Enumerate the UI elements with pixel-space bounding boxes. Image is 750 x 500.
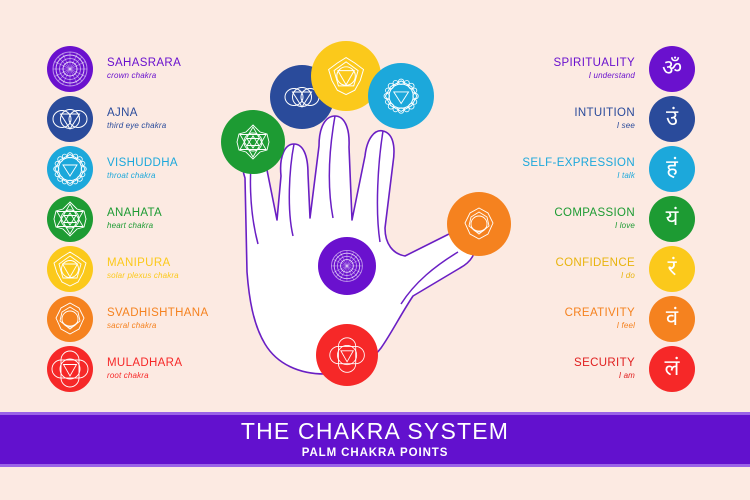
lam-icon: लं [665, 358, 680, 380]
legend-text: ANAHATA heart chakra [93, 207, 162, 231]
manipura-ten-petal-icon [47, 246, 93, 292]
hand-badge-svadhishthana[interactable] [447, 192, 511, 256]
ram-chip[interactable]: रं [649, 246, 695, 292]
legend-affirmation: I talk [510, 170, 635, 181]
legend-name: MANIPURA [107, 257, 179, 270]
muladhara-chip[interactable] [47, 346, 93, 392]
yam-icon: यं [666, 208, 679, 230]
legend-subtitle: heart chakra [107, 220, 162, 231]
yam-chip[interactable]: यं [649, 196, 695, 242]
ham-icon: हं [666, 158, 678, 180]
legend-affirmation: I feel [510, 320, 635, 331]
legend-text: CREATIVITY I feel [510, 307, 649, 331]
sahasrara-lotus-icon [47, 46, 93, 92]
legend-text: SECURITY I am [510, 357, 649, 381]
vam-chip[interactable]: वं [649, 296, 695, 342]
ram-icon: रं [668, 258, 677, 280]
legend-name: CREATIVITY [510, 307, 635, 320]
legend-subtitle: sacral chakra [107, 320, 208, 331]
hand-badge-sahasrara[interactable] [318, 237, 376, 295]
legend-text: SAHASRARA crown chakra [93, 57, 181, 81]
legend-text: SPIRITUALITY I understand [510, 57, 649, 81]
legend-text: INTUITION I see [510, 107, 649, 131]
legend-item-ajna[interactable]: AJNA third eye chakra [47, 94, 257, 144]
legend-item-svadhishthana[interactable]: SVADHISHTHANA sacral chakra [47, 294, 257, 344]
om-chip[interactable]: ॐ [649, 46, 695, 92]
legend-name: AJNA [107, 107, 166, 120]
legend-text: VISHUDDHA throat chakra [93, 157, 178, 181]
legend-subtitle: root chakra [107, 370, 182, 381]
legend-text: SELF-EXPRESSION I talk [510, 157, 649, 181]
footer-banner: THE CHAKRA SYSTEM PALM CHAKRA POINTS [0, 412, 750, 467]
legend-item-manipura[interactable]: MANIPURA solar plexus chakra [47, 244, 257, 294]
legend-item-spirituality[interactable]: SPIRITUALITY I understand ॐ [510, 44, 695, 94]
legend-text: AJNA third eye chakra [93, 107, 166, 131]
legend-text: CONFIDENCE I do [510, 257, 649, 281]
legend-item-self-expression[interactable]: SELF-EXPRESSION I talk हं [510, 144, 695, 194]
legend-text: MANIPURA solar plexus chakra [93, 257, 179, 281]
sahasrara-chip[interactable] [47, 46, 93, 92]
ajna-two-petal-icon [47, 96, 93, 142]
legend-affirmation: I am [510, 370, 635, 381]
hand-badge-vishuddha[interactable] [368, 63, 434, 129]
legend-subtitle: third eye chakra [107, 120, 166, 131]
legend-item-security[interactable]: SECURITY I am लं [510, 344, 695, 394]
banner-title: THE CHAKRA SYSTEM [241, 418, 509, 445]
legend-item-muladhara[interactable]: MULADHARA root chakra [47, 344, 257, 394]
anahata-hexagram-icon [47, 196, 93, 242]
lam-chip[interactable]: लं [649, 346, 695, 392]
hand-badge-muladhara[interactable] [316, 324, 378, 386]
legend-item-sahasrara[interactable]: SAHASRARA crown chakra [47, 44, 257, 94]
um-icon: उं [666, 108, 678, 130]
palm-chakra-hand-diagram [215, 28, 545, 398]
manipura-chip[interactable] [47, 246, 93, 292]
legend-subtitle: throat chakra [107, 170, 178, 181]
vam-icon: वं [666, 308, 678, 330]
legend-text: SVADHISHTHANA sacral chakra [93, 307, 208, 331]
um-chip[interactable]: उं [649, 96, 695, 142]
legend-affirmation: I understand [510, 70, 635, 81]
legend-name: COMPASSION [510, 207, 635, 220]
legend-subtitle: crown chakra [107, 70, 181, 81]
chakra-name-legend: SAHASRARA crown chakra AJNA third eye ch… [47, 44, 257, 394]
legend-item-intuition[interactable]: INTUITION I see उं [510, 94, 695, 144]
legend-item-creativity[interactable]: CREATIVITY I feel वं [510, 294, 695, 344]
legend-text: COMPASSION I love [510, 207, 649, 231]
legend-name: INTUITION [510, 107, 635, 120]
ajna-chip[interactable] [47, 96, 93, 142]
legend-name: VISHUDDHA [107, 157, 178, 170]
legend-name: SECURITY [510, 357, 635, 370]
legend-text: MULADHARA root chakra [93, 357, 182, 381]
chakra-attribute-legend: SPIRITUALITY I understand ॐ INTUITION I … [510, 44, 695, 394]
legend-name: SELF-EXPRESSION [510, 157, 635, 170]
legend-affirmation: I love [510, 220, 635, 231]
legend-name: SPIRITUALITY [510, 57, 635, 70]
legend-item-vishuddha[interactable]: VISHUDDHA throat chakra [47, 144, 257, 194]
legend-name: SAHASRARA [107, 57, 181, 70]
banner-subtitle: PALM CHAKRA POINTS [302, 445, 449, 461]
legend-item-compassion[interactable]: COMPASSION I love यं [510, 194, 695, 244]
legend-affirmation: I see [510, 120, 635, 131]
vishuddha-sixteen-petal-icon [47, 146, 93, 192]
svadhishthana-six-petal-icon [47, 296, 93, 342]
anahata-chip[interactable] [47, 196, 93, 242]
legend-item-anahata[interactable]: ANAHATA heart chakra [47, 194, 257, 244]
ham-chip[interactable]: हं [649, 146, 695, 192]
muladhara-four-petal-icon [47, 346, 93, 392]
legend-name: CONFIDENCE [510, 257, 635, 270]
legend-name: ANAHATA [107, 207, 162, 220]
legend-name: SVADHISHTHANA [107, 307, 208, 320]
vishuddha-chip[interactable] [47, 146, 93, 192]
legend-affirmation: I do [510, 270, 635, 281]
om-icon: ॐ [662, 58, 682, 80]
legend-item-confidence[interactable]: CONFIDENCE I do रं [510, 244, 695, 294]
legend-name: MULADHARA [107, 357, 182, 370]
legend-subtitle: solar plexus chakra [107, 270, 179, 281]
infographic-canvas: SAHASRARA crown chakra AJNA third eye ch… [0, 0, 750, 500]
svadhishthana-chip[interactable] [47, 296, 93, 342]
